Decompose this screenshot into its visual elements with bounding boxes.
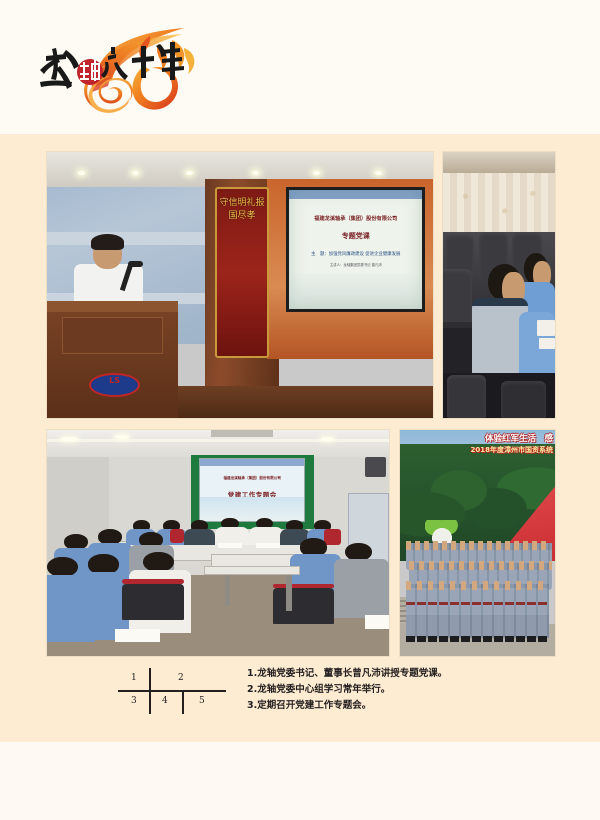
- calligraphy-banner: 守信明礼报国尽孝: [215, 187, 269, 359]
- caption-1: 1.龙轴党委书记、董事长曾凡沛讲授专题党课。: [247, 666, 567, 682]
- podium-ls-logo: LS: [89, 373, 139, 397]
- screen-subject: 主 题：加强党风廉政建设 促进企业健康发展: [289, 251, 422, 257]
- photo-layout-key: 1 2 3 4 5: [118, 668, 226, 714]
- anniversary-album-page: 守信明礼报国尽孝 福建龙溪轴承（集团）股份有限公司 专题党课 主 题：加强党风廉…: [0, 0, 600, 820]
- banner-line-1: 体验红军生活 感: [400, 432, 555, 444]
- key-cell-1: 1: [131, 673, 137, 683]
- key-vertical-divider-2: [182, 690, 184, 714]
- caption-2: 2.龙轴党委中心组学习常年举行。: [247, 682, 567, 698]
- longzhou-60th-anniversary-logo: [32, 26, 212, 114]
- banner-line-2: 2018年度漳州市国资系统: [400, 445, 555, 455]
- meeting-projection-screen: 福建龙溪轴承（集团）股份有限公司 党建工作专题会: [199, 458, 305, 521]
- lecture-party-class-photo: 守信明礼报国尽孝 福建龙溪轴承（集团）股份有限公司 专题党课 主 题：加强党风廉…: [47, 152, 433, 418]
- caption-list: 1.龙轴党委书记、董事长曾凡沛讲授专题党课。 2.龙轴党委中心组学习常年举行。 …: [247, 666, 567, 714]
- screen-title: 专题党课: [289, 231, 422, 241]
- screen-company: 福建龙溪轴承（集团）股份有限公司: [289, 215, 422, 222]
- screen-speaker: 主讲人：龙轴集团党委书记 曾凡沛: [289, 262, 422, 267]
- group-photo-banner: 体验红军生活 感 2018年度漳州市国资系统: [400, 432, 555, 461]
- red-army-group-photo: 体验红军生活 感 2018年度漳州市国资系统: [400, 430, 555, 656]
- key-cell-4: 4: [162, 696, 168, 706]
- audience-seated-photo: [443, 152, 555, 418]
- caption-3: 3.定期召开党建工作专题会。: [247, 698, 567, 714]
- key-horizontal-divider: [118, 690, 226, 692]
- projection-screen: 福建龙溪轴承（集团）股份有限公司 专题党课 主 题：加强党风廉政建设 促进企业健…: [286, 187, 425, 312]
- key-vertical-divider-1: [149, 668, 151, 714]
- page-footer-band: [0, 742, 600, 820]
- key-cell-2: 2: [178, 673, 184, 683]
- party-building-meeting-photo: 福建龙溪轴承（集团）股份有限公司 党建工作专题会: [47, 430, 389, 656]
- meeting-screen-company: 福建龙溪轴承（集团）股份有限公司: [200, 476, 304, 481]
- key-cell-5: 5: [199, 696, 205, 706]
- key-cell-3: 3: [131, 696, 137, 706]
- banner-text: 守信明礼报国尽孝: [217, 189, 267, 223]
